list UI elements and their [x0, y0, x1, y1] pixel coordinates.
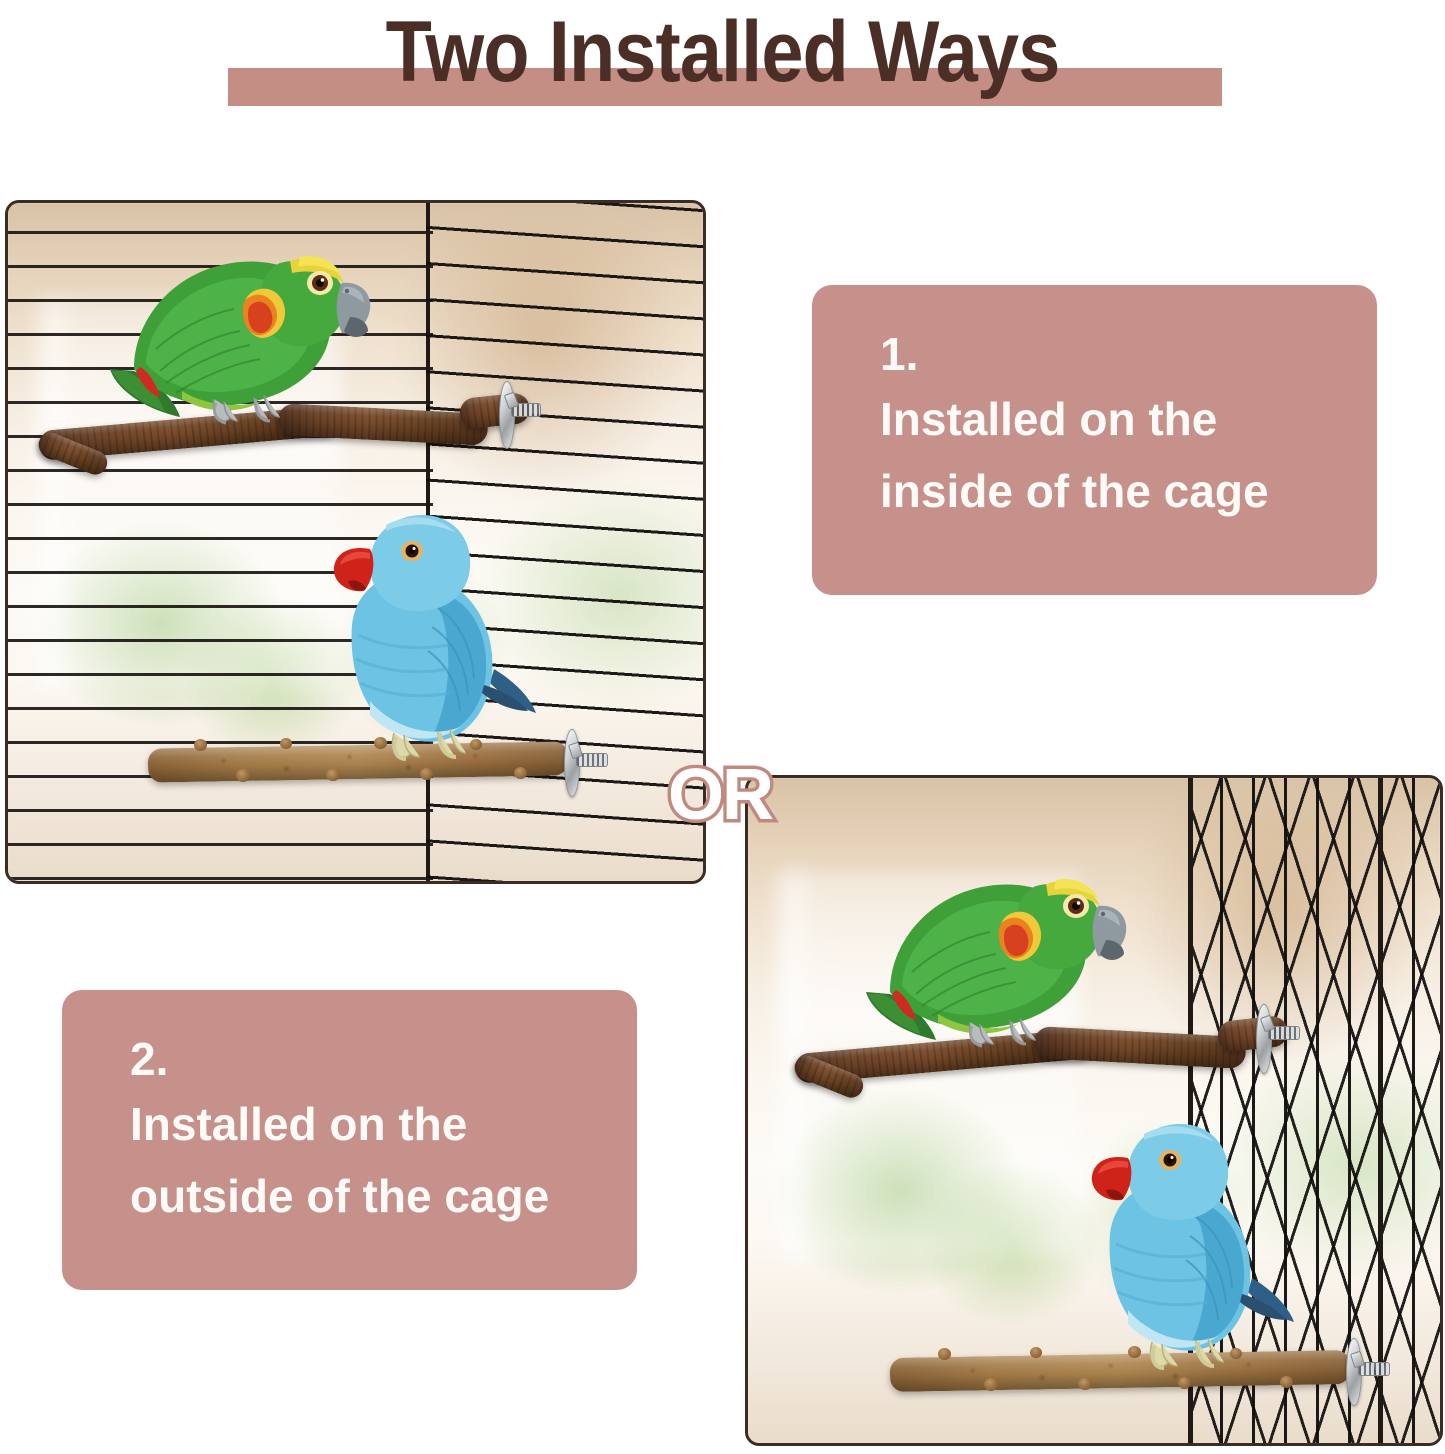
perch-knob — [1280, 1376, 1293, 1388]
card-line-1: Installed on the — [130, 1088, 637, 1160]
perch-knob — [984, 1378, 998, 1391]
photo-inside-cage — [5, 200, 706, 884]
green-amazon-parrot — [104, 221, 384, 431]
card-line-2: inside of the cage — [880, 455, 1377, 527]
perch-knob — [1178, 1377, 1191, 1389]
page-header: Two Installed Ways — [0, 0, 1445, 130]
green-amazon-parrot — [860, 844, 1140, 1054]
perch-knob — [938, 1348, 951, 1360]
blue-indian-ringneck-parakeet — [1066, 1104, 1306, 1374]
card-line-2: outside of the cage — [130, 1160, 637, 1232]
blue-indian-ringneck-parakeet — [308, 495, 548, 765]
perch-knob — [194, 739, 207, 751]
instruction-card-outside: 2. Installed on the outside of the cage — [62, 990, 637, 1290]
card-number: 1. — [880, 325, 1377, 383]
perch-knob — [1030, 1347, 1042, 1358]
perch-knob — [420, 768, 433, 780]
cage-frame-post-right — [1378, 778, 1383, 1443]
photo-outside-cage — [745, 775, 1443, 1446]
page-title: Two Installed Ways — [87, 2, 1359, 102]
perch-knob — [326, 769, 340, 781]
or-separator: OR — [668, 755, 772, 835]
instruction-card-inside: 1. Installed on the inside of the cage — [812, 285, 1377, 595]
card-line-1: Installed on the — [880, 383, 1377, 455]
card-number: 2. — [130, 1030, 637, 1088]
perch-knob — [1078, 1378, 1092, 1390]
perch-knob — [236, 769, 250, 782]
perch-knob — [280, 738, 292, 749]
perch-knob — [514, 767, 527, 779]
